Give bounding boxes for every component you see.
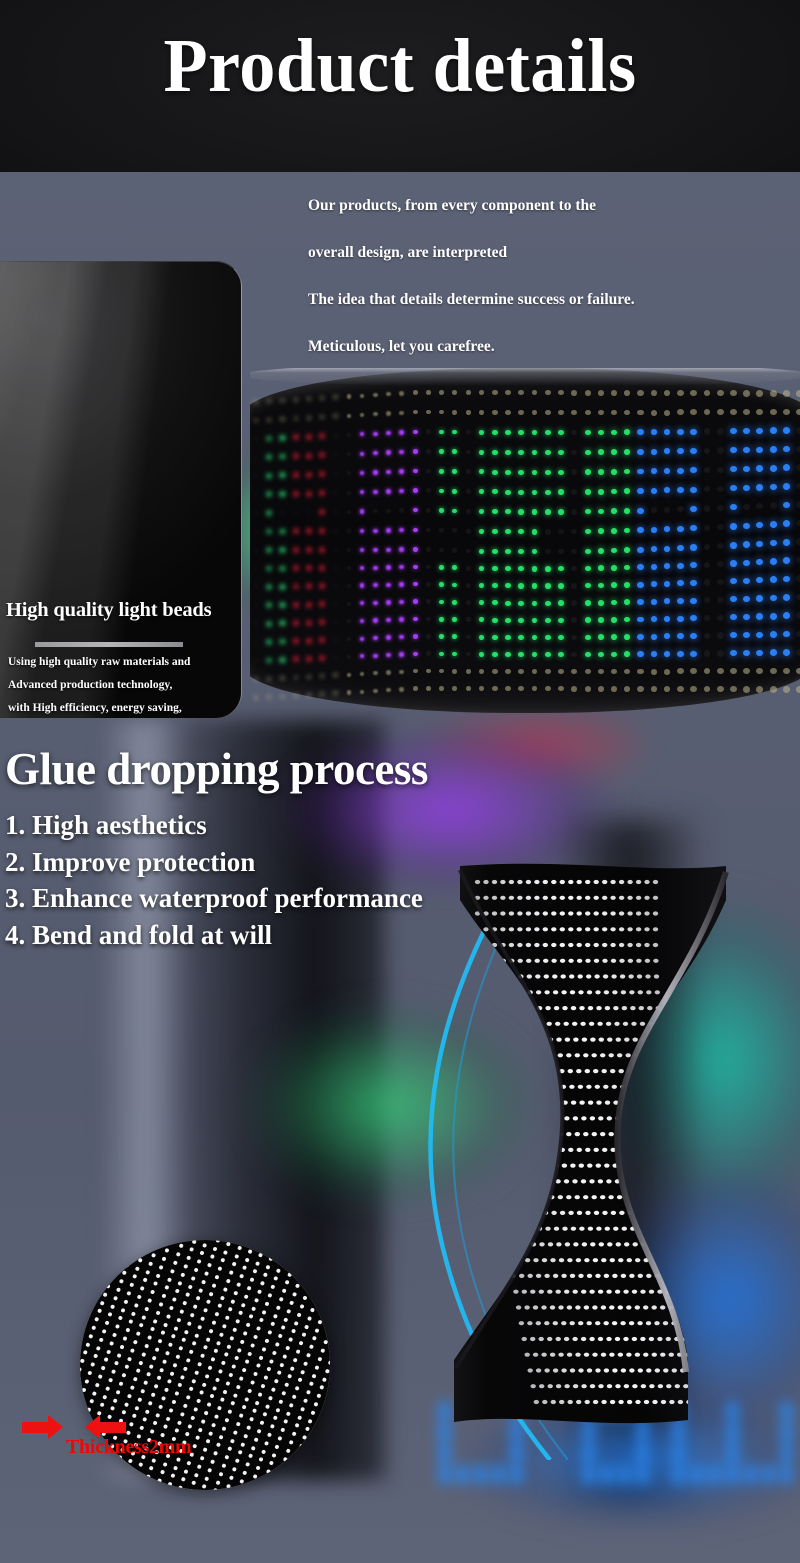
light-beads-body-line: Advanced production technology, (8, 674, 236, 697)
glue-process-title: Glue dropping process (5, 743, 625, 795)
light-beads-card: High quality light beads Using high qual… (0, 261, 242, 718)
thickness-arrow-right-icon (22, 1422, 48, 1433)
wavy-flexible-led-panel (430, 860, 760, 1430)
thickness-arrow-left-icon (100, 1422, 126, 1433)
light-beads-divider (35, 642, 183, 647)
intro-line: Our products, from every component to th… (308, 182, 800, 229)
curved-led-panel-dot-matrix (250, 368, 800, 713)
light-beads-body-line: with High efficiency, energy saving, (8, 697, 236, 718)
curved-led-panel-top-edge (250, 368, 800, 386)
curved-led-panel-photo (250, 368, 800, 713)
header-banner: Product details (0, 0, 800, 172)
product-detail-page: Product details Our products, from every… (0, 0, 800, 1563)
intro-line: The idea that details determine success … (308, 276, 800, 323)
light-beads-heading: High quality light beads (6, 599, 242, 622)
intro-line: overall design, are interpreted (308, 229, 800, 276)
glue-process-list-item: 1. High aesthetics (5, 807, 625, 844)
light-beads-body: Using high quality raw materials and Adv… (8, 651, 236, 718)
page-title: Product details (20, 24, 780, 108)
intro-line: Meticulous, let you carefree. (308, 323, 800, 370)
intro-paragraph: Our products, from every component to th… (308, 182, 800, 370)
thickness-label: Thickness2mm (66, 1436, 191, 1459)
light-beads-body-line: Using high quality raw materials and (8, 651, 236, 674)
